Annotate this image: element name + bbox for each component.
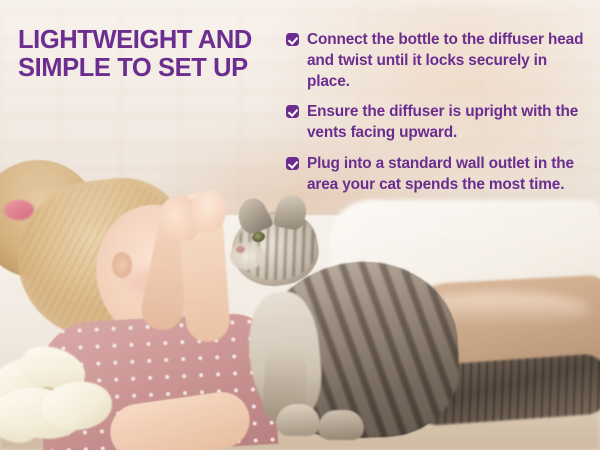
check-square-icon bbox=[286, 33, 299, 46]
page-title-line-2: SIMPLE TO SET UP bbox=[18, 54, 284, 82]
list-item: Ensure the diffuser is upright with the … bbox=[286, 102, 590, 144]
list-item-label: Plug into a standard wall outlet in the … bbox=[307, 154, 590, 196]
text-overlay: LIGHTWEIGHT AND SIMPLE TO SET UP Connect… bbox=[0, 0, 600, 450]
check-square-icon bbox=[286, 105, 299, 118]
list-item: Plug into a standard wall outlet in the … bbox=[286, 154, 590, 196]
page-title-line-1: LIGHTWEIGHT AND bbox=[18, 26, 284, 54]
check-square-icon bbox=[286, 157, 299, 170]
list-item-label: Connect the bottle to the diffuser head … bbox=[307, 30, 590, 92]
page-title: LIGHTWEIGHT AND SIMPLE TO SET UP bbox=[18, 26, 284, 82]
instruction-checklist: Connect the bottle to the diffuser head … bbox=[286, 30, 590, 196]
list-item: Connect the bottle to the diffuser head … bbox=[286, 30, 590, 92]
list-item-label: Ensure the diffuser is upright with the … bbox=[307, 102, 590, 144]
